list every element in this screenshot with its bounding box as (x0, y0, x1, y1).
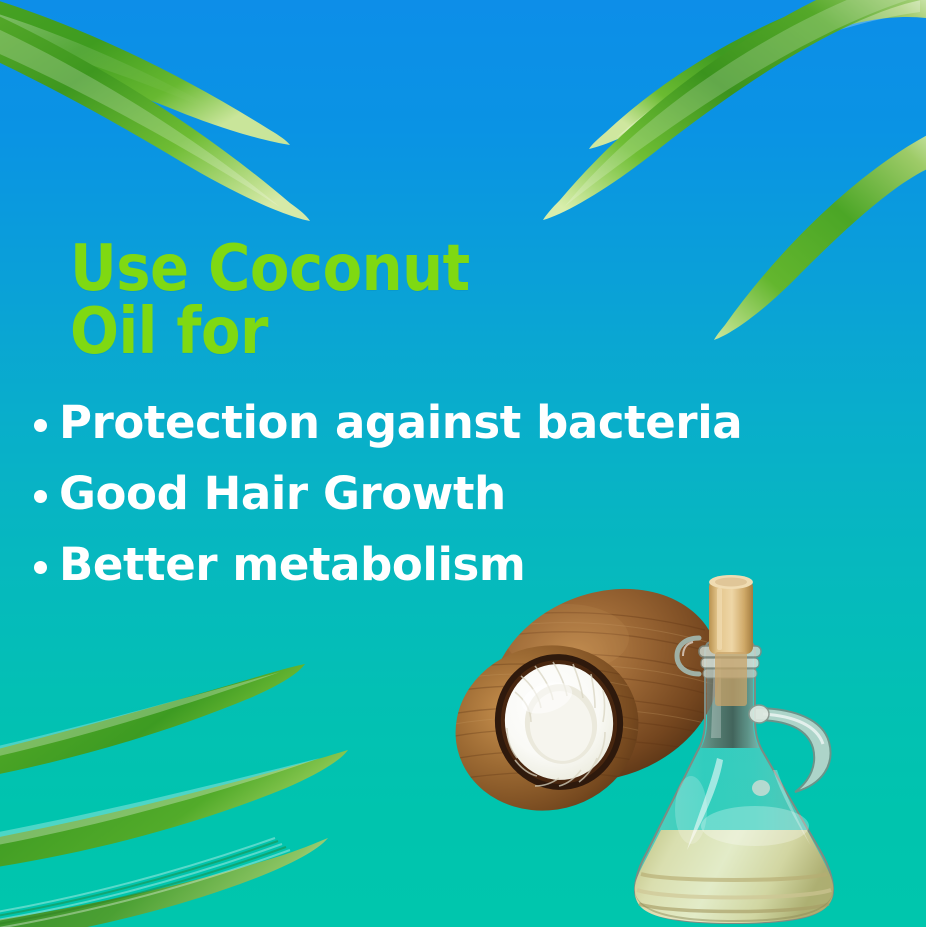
palm-leaf-top-right-lower (520, 0, 926, 250)
palm-leaf-bottom-left-lower (0, 800, 340, 927)
palm-leaf-top-left-upper (0, 0, 320, 190)
coconut-oil-banner: Use Coconut Oil for Protection against b… (0, 0, 926, 927)
page-title: Use Coconut Oil for (70, 238, 630, 363)
benefit-label: Good Hair Growth (59, 471, 506, 516)
palm-leaf-top-right-edge (700, 120, 926, 350)
palm-leaf-bottom-left-upper (0, 660, 340, 800)
bullet-dot-icon (34, 490, 47, 503)
benefit-label: Protection against bacteria (59, 400, 742, 445)
list-item: Protection against bacteria (34, 400, 774, 445)
palm-leaf-bottom-left-middle (0, 740, 370, 890)
bullet-dot-icon (34, 561, 47, 574)
bullet-dot-icon (34, 419, 47, 432)
product-image-group (455, 470, 926, 927)
palm-leaf-top-right-upper (566, 0, 926, 180)
palm-leaf-top-left-lower (0, 0, 330, 245)
